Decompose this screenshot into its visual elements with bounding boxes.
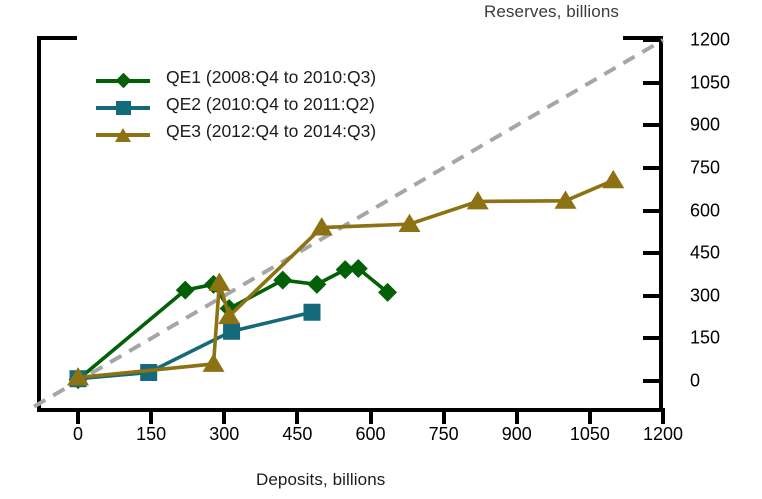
y-axis-tick-label: 1050: [690, 72, 730, 93]
y-axis-tick: [643, 123, 659, 127]
legend-label: QE2 (2010:Q4 to 2011:Q2): [166, 94, 375, 115]
y-axis-title: Reserves, billions: [484, 2, 619, 22]
axis-spine-bottom: [37, 408, 663, 412]
x-axis-title: Deposits, billions: [256, 470, 385, 490]
legend-label: QE1 (2008:Q4 to 2010:Q3): [166, 67, 376, 88]
y-axis-tick: [643, 336, 659, 340]
plot-area: [37, 36, 663, 412]
y-axis-tick-label: 450: [690, 243, 720, 264]
y-axis-tick-label: 1200: [690, 30, 730, 51]
y-axis-tick: [643, 379, 659, 383]
x-axis-tick-label: 1200: [643, 424, 683, 445]
x-axis-tick: [442, 408, 446, 424]
x-axis-tick-label: 1050: [570, 424, 610, 445]
y-axis-tick-label: 750: [690, 157, 720, 178]
x-axis-tick-label: 450: [282, 424, 312, 445]
legend-triangle-icon: [115, 128, 131, 142]
y-axis-tick-label: 600: [690, 200, 720, 221]
legend-square-icon: [116, 101, 131, 115]
x-axis-tick: [222, 408, 226, 424]
y-axis-tick-label: 150: [690, 328, 720, 349]
x-axis-tick: [515, 408, 519, 424]
x-axis-tick: [661, 408, 665, 424]
chart-canvas: Reserves, billions 015030045060075090010…: [0, 0, 762, 499]
y-axis-tick-label: 0: [690, 371, 700, 392]
x-axis-tick-label: 300: [209, 424, 239, 445]
axis-spine-right: [659, 36, 663, 412]
y-axis-tick: [643, 38, 659, 42]
x-axis-tick: [295, 408, 299, 424]
y-axis-tick-label: 300: [690, 285, 720, 306]
y-axis-tick: [643, 166, 659, 170]
x-axis-tick-label: 750: [429, 424, 459, 445]
x-axis-tick: [588, 408, 592, 424]
legend-label: QE3 (2012:Q4 to 2014:Q3): [166, 121, 376, 142]
x-axis-tick: [76, 408, 80, 424]
x-axis-tick-label: 0: [73, 424, 83, 445]
y-axis-tick: [643, 294, 659, 298]
axis-spine-top-left: [37, 36, 77, 40]
x-axis-tick-label: 900: [502, 424, 532, 445]
x-axis-tick-label: 150: [136, 424, 166, 445]
axis-spine-left: [37, 36, 41, 412]
y-axis-tick: [643, 81, 659, 85]
y-axis-tick: [643, 251, 659, 255]
x-axis-tick: [369, 408, 373, 424]
x-axis-tick: [149, 408, 153, 424]
x-axis-tick-label: 600: [355, 424, 385, 445]
y-axis-tick-label: 900: [690, 115, 720, 136]
y-axis-tick: [643, 209, 659, 213]
